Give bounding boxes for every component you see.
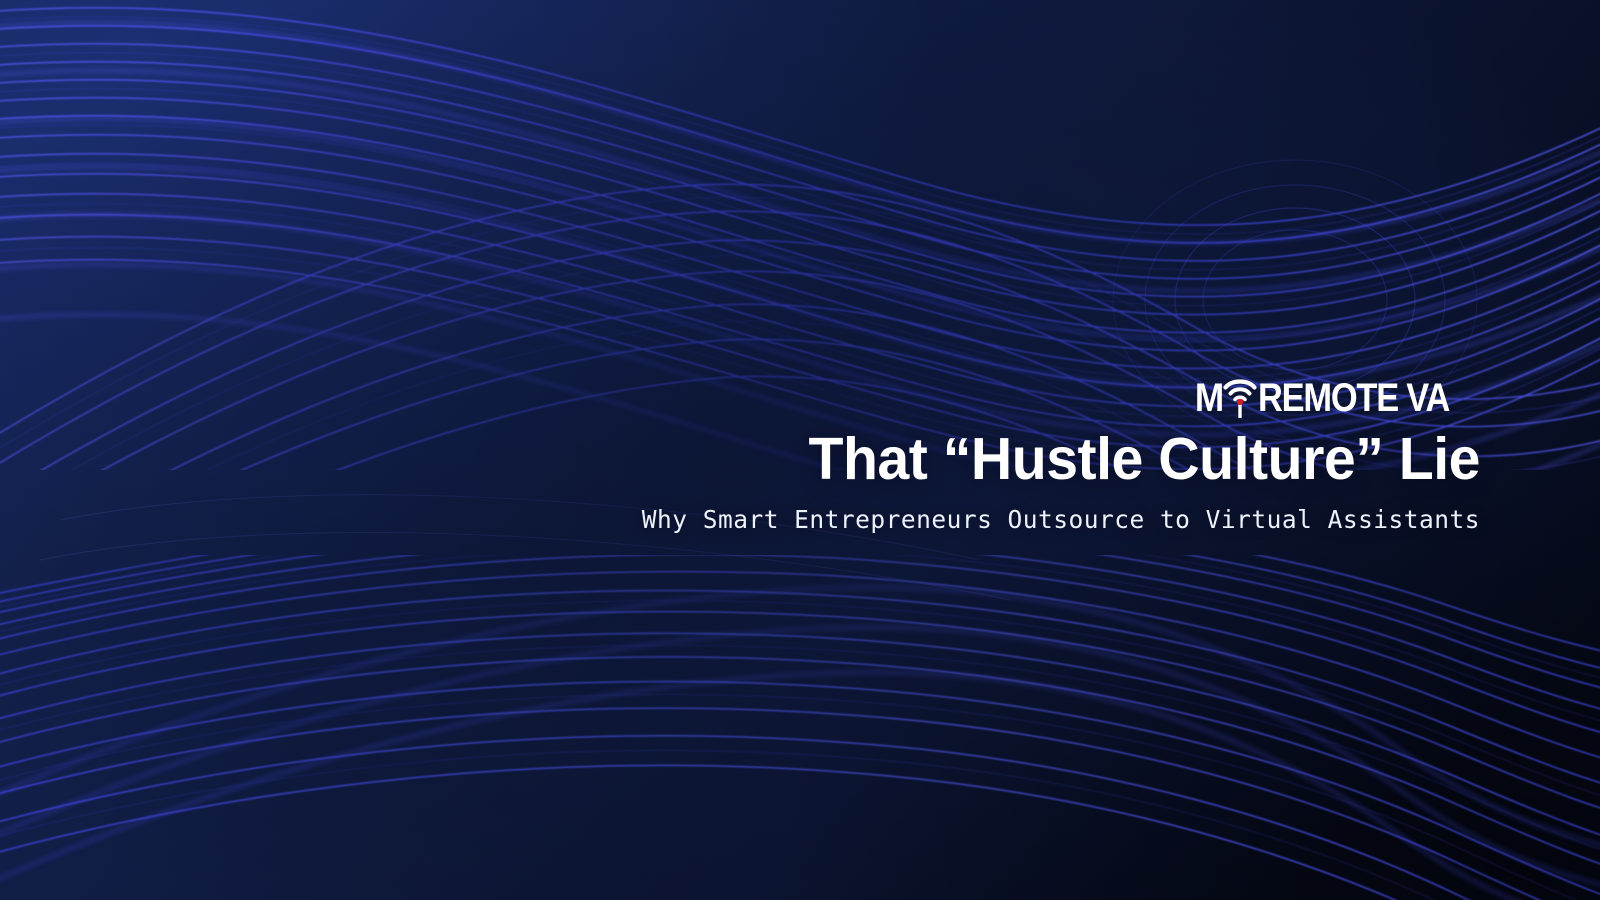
logo-letter-m: M [1195, 378, 1223, 418]
title-slide: M [0, 0, 1600, 900]
slide-content: M [0, 0, 1600, 900]
brand-logo[interactable]: M [1191, 372, 1480, 418]
logo-wordmark: REMOTE VA [1258, 378, 1449, 418]
wifi-signal-icon [1222, 374, 1258, 418]
page-subtitle: Why Smart Entrepreneurs Outsource to Vir… [402, 503, 1480, 537]
title-text-block: M [380, 372, 1480, 537]
page-title: That “Hustle Culture” Lie [413, 426, 1480, 492]
